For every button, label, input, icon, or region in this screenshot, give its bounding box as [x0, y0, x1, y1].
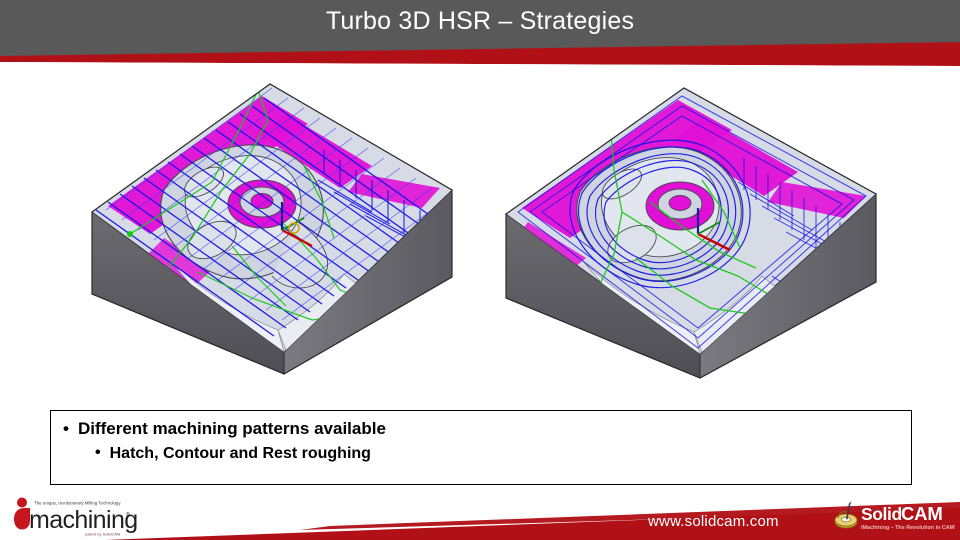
bullet-marker-icon: •	[63, 420, 69, 437]
figure-hatch-roughing	[72, 62, 472, 402]
imachining-tagline-bottom: patent by SolidCAM	[85, 532, 120, 537]
bullet-text-level2: Hatch, Contour and Rest roughing	[110, 444, 371, 463]
figure-contour-roughing	[482, 62, 902, 402]
bullet-item-level2: • Hatch, Contour and Rest roughing	[95, 444, 911, 463]
imachining-initial	[14, 508, 30, 530]
rapid-start-point	[127, 231, 133, 237]
website-url[interactable]: www.solidcam.com	[648, 513, 779, 530]
page-title: Turbo 3D HSR – Strategies	[0, 7, 960, 36]
slide-canvas: Turbo 3D HSR – Strategies	[0, 0, 960, 540]
rapid-start-point	[604, 66, 612, 74]
solidcam-wordmark-cam: CAM	[901, 503, 943, 524]
imachining-logo: The unique, revolutionary Milling Techno…	[8, 496, 143, 538]
solidcam-logo: Solid CAM iMachining – The Revolution in…	[833, 500, 955, 536]
bullet-text-level1: Different machining patterns available	[78, 419, 386, 439]
footer-band	[0, 486, 960, 540]
content-text-box: • Different machining patterns available…	[50, 410, 912, 485]
imachining-dot-icon	[17, 498, 27, 508]
imachining-trademark: ®	[126, 511, 130, 518]
imachining-tagline-top: The unique, revolutionary Milling Techno…	[34, 501, 121, 506]
solidcam-wordmark-solid: Solid	[861, 504, 902, 524]
solidcam-cutter-icon	[835, 501, 857, 528]
figures-area	[0, 62, 960, 402]
solidcam-tagline: iMachining – The Revolution in CAM!	[861, 525, 955, 531]
bullet-marker-icon: •	[95, 445, 101, 461]
bullet-item-level1: • Different machining patterns available	[63, 419, 911, 439]
imachining-wordmark: machining	[29, 506, 138, 534]
boss-bore	[669, 196, 691, 211]
